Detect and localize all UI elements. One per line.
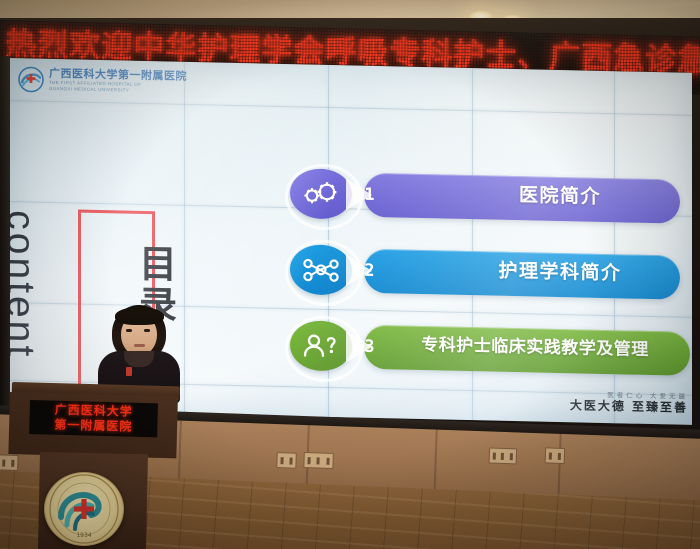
agenda-badge-3: 03 [290,320,406,373]
photo-scene: 热烈欢迎中华护理学会呼吸专科护士、广西急诊急救专科护士到我院交流学习 [0,0,700,549]
outlet-slot [501,452,504,459]
network-nodes-icon [299,255,343,284]
content-title-cn-char-1: 目 [136,244,180,286]
presenter-eye-right [144,329,150,332]
outlet-slot [317,457,320,464]
agenda-row-3[interactable]: 专科护士临床实践教学及管理 03 [290,320,690,379]
person-question-icon [299,331,343,360]
slide-hospital-logo: 广西医科大学第一附属医院 THE FIRST AFFILIATED HOSPIT… [18,66,187,96]
content-title-en: content [8,210,42,360]
outlet-slot [308,457,311,464]
hospital-logo-text: 广西医科大学第一附属医院 THE FIRST AFFILIATED HOSPIT… [49,68,187,94]
calligraphy-big-text: 大医大德 至臻至善 [570,399,688,414]
hospital-logo-icon [18,66,44,93]
agenda-label-2: 护理学科简介 [440,247,680,296]
panel-seam-h1 [8,100,692,116]
agenda-row-2[interactable]: 护理学科简介 [290,244,680,303]
outlet-slot [280,457,283,464]
outlet-slot [493,452,496,459]
presenter-mouth [134,344,145,347]
outlet-slot [326,457,329,464]
presenter-fringe [115,307,164,325]
screen-left-trim [0,56,10,416]
slide-calligraphy: 医者仁心 大爱无疆 大医大德 至臻至善 [570,392,688,414]
hospital-name-en-line2: GUANGXI MEDICAL UNIVERSITY [49,87,187,94]
wall-outlet-5[interactable] [545,447,566,464]
outlet-slot [558,452,561,459]
svg-text:1934: 1934 [76,532,91,539]
agenda-number-2: 02 [352,246,376,297]
presenter-eye-left [126,329,132,332]
wall-outlet-3[interactable] [303,452,334,469]
gears-icon [299,179,343,208]
outlet-slot [510,453,513,460]
outlet-slot [289,457,292,464]
agenda-row-1[interactable]: 医院简介 [290,168,680,227]
agenda-label-3: 专科护士临床实践教学及管理 [382,322,688,373]
wall-outlet-2[interactable] [276,452,297,469]
agenda-badge-2: 02 [290,244,406,297]
agenda-label-1: 医院简介 [440,171,680,220]
podium-led-sign: 广西医科大学 第一附属医院 [29,400,158,437]
outlet-slot [2,459,5,466]
podium-emblem: 1934 [44,472,124,546]
presenter-badge [126,367,132,376]
podium-led-line-2: 第一附属医院 [54,418,132,435]
outlet-slot [549,452,552,459]
agenda-badge-1: 01 [290,168,406,221]
agenda-number-1: 01 [352,170,376,221]
wall-outlet-4[interactable] [489,447,518,464]
panel-seam-v1 [184,62,185,414]
agenda-number-3: 03 [352,322,376,373]
